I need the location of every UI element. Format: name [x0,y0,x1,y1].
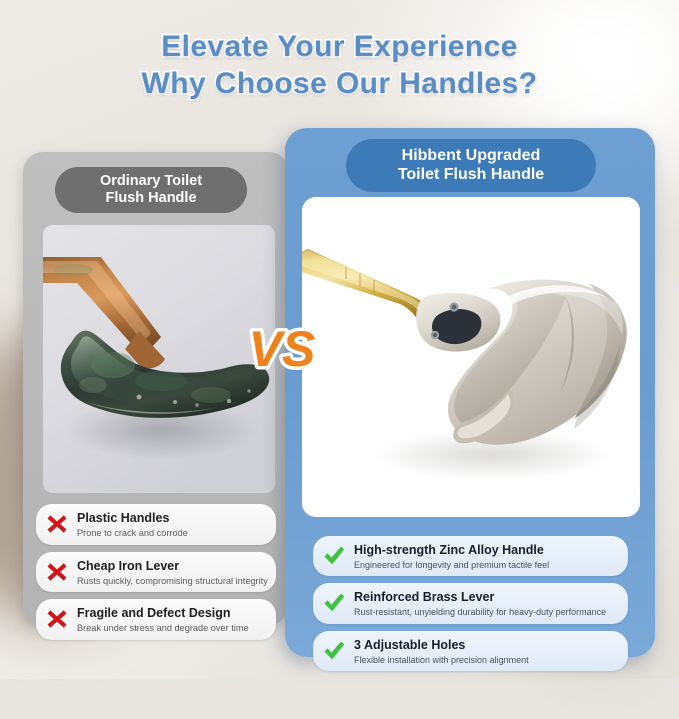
ordinary-header-line-2: Flush Handle [105,190,196,206]
upgraded-card-header-pill: Hibbent Upgraded Toilet Flush Handle [346,139,596,192]
ordinary-feature-list: Plastic Handles Prone to crack and corro… [36,504,276,647]
feature-row: 3 Adjustable Holes Flexible installation… [313,631,628,671]
feature-text: Plastic Handles Prone to crack and corro… [77,509,267,540]
vs-badge-text: VS VS [239,318,325,380]
feature-row: Cheap Iron Lever Rusts quickly, compromi… [36,552,276,593]
feature-subtitle: Rust-resistant, unyielding durability fo… [354,607,619,618]
x-mark-icon [45,607,69,631]
feature-text: Cheap Iron Lever Rusts quickly, compromi… [77,557,267,588]
ordinary-header-line-1: Ordinary Toilet [100,173,202,189]
check-mark-icon [322,639,346,663]
feature-subtitle: Flexible installation with precision ali… [354,655,619,666]
feature-title: Reinforced Brass Lever [354,590,494,604]
feature-text: 3 Adjustable Holes Flexible installation… [354,636,619,666]
feature-row: Reinforced Brass Lever Rust-resistant, u… [313,583,628,623]
vs-badge-fill: VS [249,321,316,377]
feature-text: Reinforced Brass Lever Rust-resistant, u… [354,588,619,618]
upgraded-header-line-2: Toilet Flush Handle [398,166,544,183]
feature-title: Fragile and Defect Design [77,606,231,620]
upgraded-handle-illustration [302,197,640,517]
feature-title: 3 Adjustable Holes [354,638,465,652]
feature-subtitle: Prone to crack and corrode [77,528,267,540]
check-mark-icon [322,544,346,568]
title-line-2: Why Choose Our Handles? [0,65,679,102]
feature-text: High-strength Zinc Alloy Handle Engineer… [354,541,619,571]
feature-row: Plastic Handles Prone to crack and corro… [36,504,276,545]
upgraded-header-line-1: Hibbent Upgraded [402,147,541,164]
feature-subtitle: Engineered for longevity and premium tac… [354,560,619,571]
feature-row: High-strength Zinc Alloy Handle Engineer… [313,536,628,576]
check-mark-icon [322,591,346,615]
upgraded-header-text: Hibbent Upgraded Toilet Flush Handle [398,147,544,184]
upgraded-feature-list: High-strength Zinc Alloy Handle Engineer… [313,536,628,678]
feature-title: Plastic Handles [77,511,169,525]
title-line-1: Elevate Your Experience [0,28,679,65]
vs-badge: VS VS [239,318,325,380]
ordinary-card-header-pill: Ordinary Toilet Flush Handle [55,167,247,213]
feature-title: High-strength Zinc Alloy Handle [354,543,544,557]
feature-row: Fragile and Defect Design Break under st… [36,599,276,640]
x-mark-icon [45,512,69,536]
feature-subtitle: Break under stress and degrade over time [77,623,267,635]
upgraded-product-photo [302,197,640,517]
page-title: Elevate Your Experience Why Choose Our H… [0,28,679,102]
ordinary-header-text: Ordinary Toilet Flush Handle [100,173,202,207]
feature-title: Cheap Iron Lever [77,559,179,573]
feature-subtitle: Rusts quickly, compromising structural i… [77,576,267,588]
x-mark-icon [45,560,69,584]
feature-text: Fragile and Defect Design Break under st… [77,604,267,635]
